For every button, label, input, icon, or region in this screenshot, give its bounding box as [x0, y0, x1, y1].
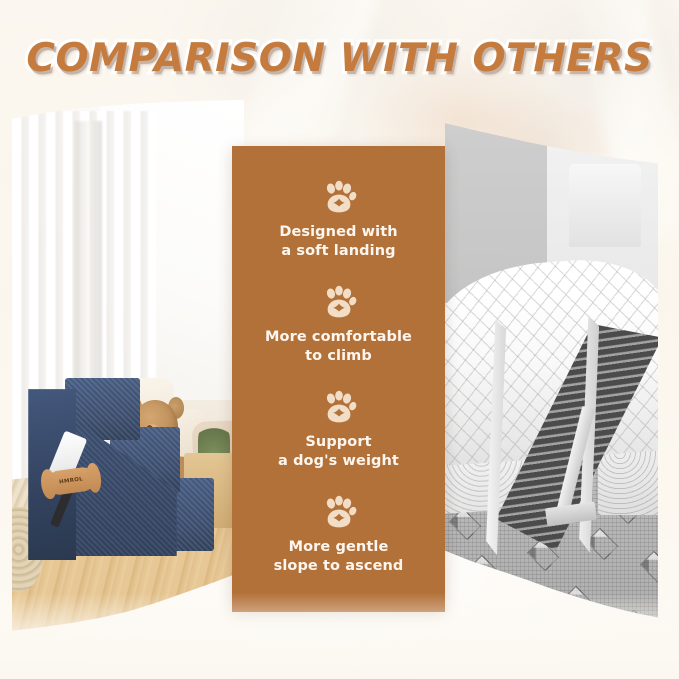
feature-text: More comfortable to climb — [265, 328, 412, 365]
feature-line: a dog's weight — [278, 452, 399, 471]
title-container: COMPARISON WITH OTHERS — [0, 36, 679, 81]
feature-line: a soft landing — [279, 242, 397, 261]
feature-line: Support — [278, 433, 399, 452]
our-product-photo-panel: HMROL — [12, 100, 244, 635]
dog-ramp — [496, 324, 658, 551]
competitor-product-photo-panel — [445, 118, 658, 633]
feature-item: More comfortable to climb — [240, 285, 437, 365]
feature-line: to climb — [265, 347, 412, 366]
paw-icon — [320, 495, 358, 531]
feature-panel: Designed with a soft landing More comfor… — [232, 146, 445, 612]
feature-list: Designed with a soft landing More comfor… — [232, 146, 445, 612]
feature-line: Designed with — [279, 223, 397, 242]
pet-stairs: HMROL — [28, 378, 214, 560]
feature-item: Support a dog's weight — [240, 390, 437, 470]
comparison-infographic: COMPARISON WITH OTHERS — [0, 0, 679, 679]
nightstand — [569, 164, 641, 246]
paw-icon — [320, 180, 358, 216]
feature-text: Support a dog's weight — [278, 433, 399, 470]
feature-text: More gentle slope to ascend — [274, 538, 404, 575]
feature-text: Designed with a soft landing — [279, 223, 397, 260]
rug-motif — [640, 551, 658, 584]
our-product-scene: HMROL — [12, 100, 244, 635]
feature-line: More comfortable — [265, 328, 412, 347]
paw-icon — [320, 285, 358, 321]
page-title: COMPARISON WITH OTHERS — [26, 36, 652, 81]
feature-item: Designed with a soft landing — [240, 180, 437, 260]
competitor-product-scene — [445, 118, 658, 633]
feature-item: More gentle slope to ascend — [240, 495, 437, 575]
feature-line: More gentle — [274, 538, 404, 557]
brand-tag-label: HMROL — [59, 476, 84, 485]
paw-icon — [320, 390, 358, 426]
feature-line: slope to ascend — [274, 557, 404, 576]
